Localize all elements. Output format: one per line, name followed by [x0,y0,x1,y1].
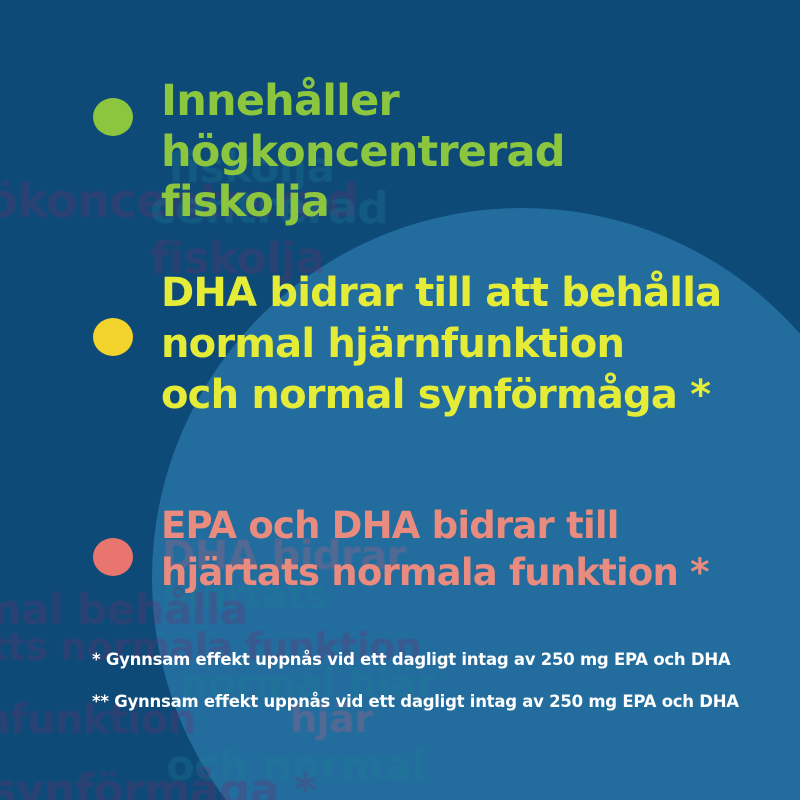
bullet-marker-icon [93,98,133,136]
bullet-text-3: EPA och DHA bidrar till hjärtats normala… [161,502,709,597]
bullet-item-2: DHA bidrar till att behålla normal hjärn… [93,268,721,420]
bullet-text-2: DHA bidrar till att behålla normal hjärn… [161,268,721,420]
footnote-2: ** Gynnsam effekt uppnås vid ett dagligt… [92,692,739,711]
ghost-text: synförmåga * [0,768,316,800]
bullet-marker-icon [93,318,133,356]
poster-canvas: fiskoljaökoncentreradcentreradfiskoljaDH… [0,0,800,800]
bullet-text-1: Innehåller högkoncentrerad fiskolja [161,76,800,228]
bullet-item-3: EPA och DHA bidrar till hjärtats normala… [93,502,709,597]
bullet-item-1: Innehåller högkoncentrerad fiskolja [93,76,800,228]
bullet-marker-icon [93,538,133,576]
ghost-text: och normal [166,744,425,788]
footnote-1: * Gynnsam effekt uppnås vid ett dagligt … [92,650,730,669]
